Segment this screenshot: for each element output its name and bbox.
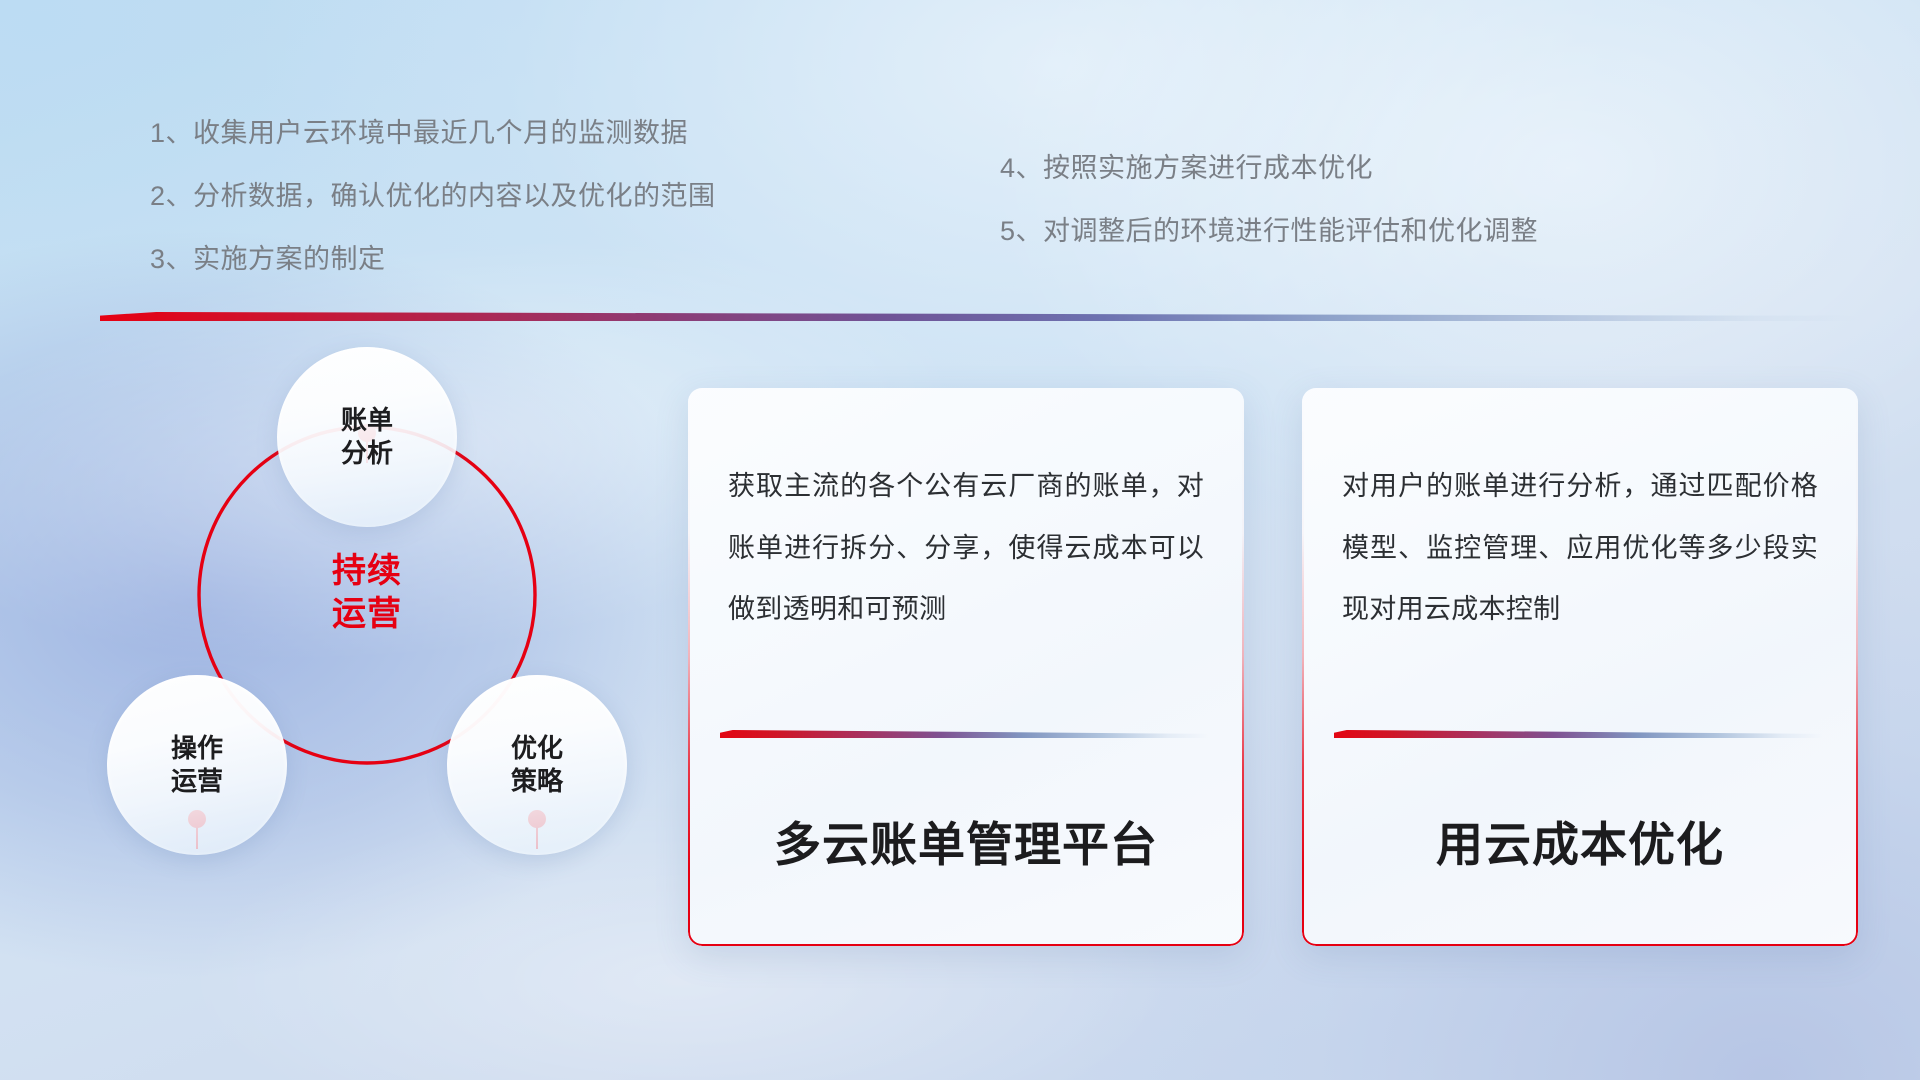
feature-card-cloud-cost-optimization[interactable]: 对用户的账单进行分析，通过匹配价格模型、监控管理、应用优化等多少段实现对用云成本… [1302,388,1858,946]
cycle-center-label: 持续 运营 [277,550,457,635]
card-divider [720,730,1208,738]
header-divider-bar [100,312,1860,321]
cycle-center-line1: 持续 [277,550,457,593]
header-divider [100,312,1860,321]
slide-canvas: 1、收集用户云环境中最近几个月的监测数据 2、分析数据，确认优化的内容以及优化的… [0,0,1920,1080]
card-divider-bar [720,730,1208,738]
cycle-node-label-line2: 分析 [341,437,393,470]
card-divider [1334,730,1822,738]
step-item-4: 4、按照实施方案进行成本优化 [1000,155,1538,182]
cycle-diagram: 账单 分析 操作 运营 优化 策略 持续 运营 [95,345,655,945]
card-divider-bar [1334,730,1822,738]
step-item-1: 1、收集用户云环境中最近几个月的监测数据 [150,120,716,147]
cycle-node-label-line1: 操作 [171,732,223,765]
card-title: 用云成本优化 [1302,806,1858,875]
card-body-text: 获取主流的各个公有云厂商的账单，对账单进行拆分、分享，使得云成本可以做到透明和可… [728,456,1204,641]
step-item-2: 2、分析数据，确认优化的内容以及优化的范围 [150,183,716,210]
step-item-5: 5、对调整后的环境进行性能评估和优化调整 [1000,218,1538,245]
cycle-node-operations[interactable]: 操作 运营 [107,675,287,855]
feature-card-multicloud-billing[interactable]: 获取主流的各个公有云厂商的账单，对账单进行拆分、分享，使得云成本可以做到透明和可… [688,388,1244,946]
cycle-node-label-line2: 策略 [511,765,563,798]
cycle-node-label-line2: 运营 [171,765,223,798]
cycle-center-line2: 运营 [277,593,457,636]
cycle-node-billing-analysis[interactable]: 账单 分析 [277,347,457,527]
cycle-node-label-line1: 优化 [511,732,563,765]
steps-list-left: 1、收集用户云环境中最近几个月的监测数据 2、分析数据，确认优化的内容以及优化的… [150,120,716,273]
cycle-node-label-line1: 账单 [341,404,393,437]
card-title: 多云账单管理平台 [688,806,1244,875]
card-body-text: 对用户的账单进行分析，通过匹配价格模型、监控管理、应用优化等多少段实现对用云成本… [1342,456,1818,641]
steps-list-right: 4、按照实施方案进行成本优化 5、对调整后的环境进行性能评估和优化调整 [1000,155,1538,245]
cycle-node-optimization-strategy[interactable]: 优化 策略 [447,675,627,855]
step-item-3: 3、实施方案的制定 [150,246,716,273]
